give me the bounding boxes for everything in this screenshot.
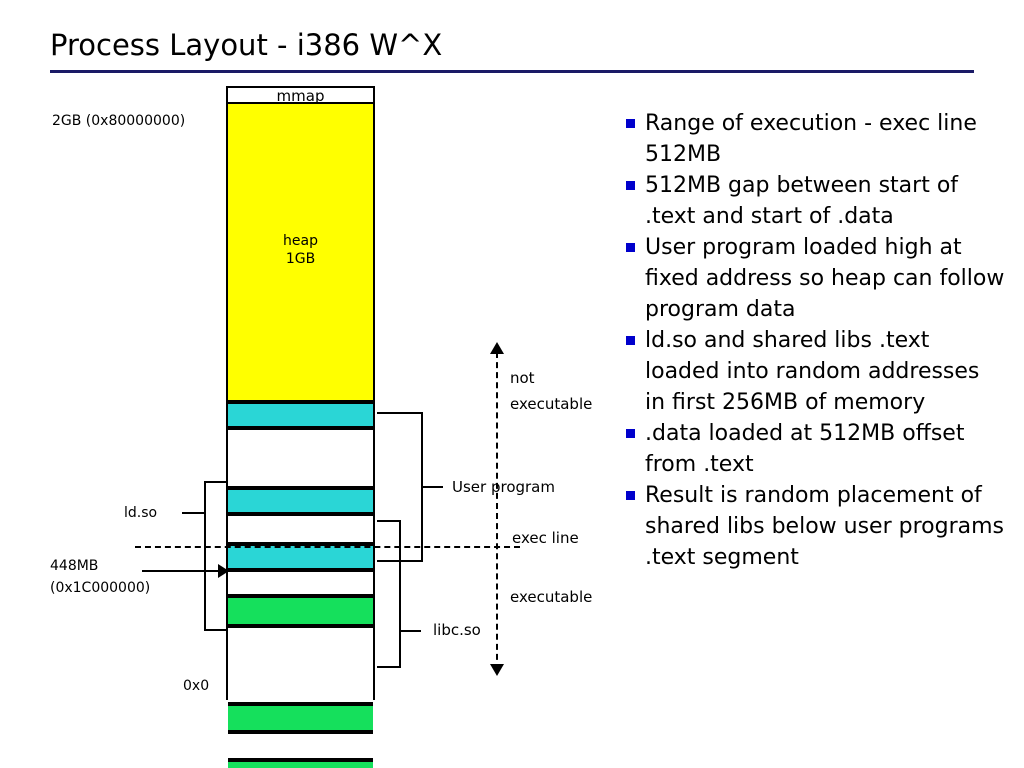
memory-block-gap-3 <box>228 570 373 596</box>
address-label-bottom: 0x0 <box>183 678 209 694</box>
bullet-square-icon <box>626 429 635 438</box>
bullet-square-icon <box>626 491 635 500</box>
bullet-text: Result is random placement of shared lib… <box>645 480 1006 573</box>
page-title: Process Layout - i386 W^X <box>50 28 442 62</box>
bullet-text: .data loaded at 512MB offset from .text <box>645 418 1006 480</box>
memory-block-gap-5 <box>228 732 373 760</box>
bullet-text: Range of execution - exec line 512MB <box>645 108 1006 170</box>
ldso-bracket-tick <box>182 512 204 514</box>
bullet-text: User program loaded high at fixed addres… <box>645 232 1006 325</box>
axis-label-executable: executable <box>510 588 592 606</box>
executable-axis-dashed-line <box>496 352 498 670</box>
memory-block-segment-green-2 <box>228 704 373 732</box>
heap-label: heap1GB <box>228 232 373 268</box>
heap-label-name: heap <box>228 232 373 250</box>
memory-block-gap-1 <box>228 428 373 488</box>
bullet-item-0: Range of execution - exec line 512MB <box>626 108 1006 170</box>
bullet-text: ld.so and shared libs .text loaded into … <box>645 325 1006 418</box>
memory-layout-column: mmap heap1GB <box>226 86 375 700</box>
bullet-square-icon <box>626 181 635 190</box>
address-label-448mb-hex: (0x1C000000) <box>50 580 150 596</box>
libc-bracket-bottom-arm <box>377 666 401 668</box>
memory-block-segment-cyan-1 <box>228 402 373 428</box>
axis-arrowhead-down-icon <box>490 664 504 676</box>
libc-bracket-spine <box>399 520 401 668</box>
ldso-bracket-bottom-arm <box>204 629 226 631</box>
exec-line-dashed-horizontal <box>135 546 520 548</box>
axis-label-exec-line: exec line <box>512 529 579 547</box>
slide-canvas: Process Layout - i386 W^X mmap heap1GB 2… <box>0 0 1024 768</box>
bullet-item-5: Result is random placement of shared lib… <box>626 480 1006 573</box>
bullet-item-1: 512MB gap between start of .text and sta… <box>626 170 1006 232</box>
address-448mb-arrowhead <box>218 564 229 578</box>
user-program-bracket-tick <box>421 486 443 488</box>
bullet-item-4: .data loaded at 512MB offset from .text <box>626 418 1006 480</box>
address-448mb-arrow-line <box>142 570 220 572</box>
memory-block-segment-green-1 <box>228 596 373 626</box>
bullet-text: 512MB gap between start of .text and sta… <box>645 170 1006 232</box>
memory-block-gap-2 <box>228 514 373 544</box>
memory-block-gap-4 <box>228 626 373 704</box>
ldso-bracket-top-arm <box>204 481 226 483</box>
ldso-bracket-spine <box>204 481 206 631</box>
memory-block-segment-green-3 <box>228 760 373 768</box>
bullet-item-3: ld.so and shared libs .text loaded into … <box>626 325 1006 418</box>
bullet-list: Range of execution - exec line 512MB512M… <box>626 108 1006 573</box>
memory-block-segment-cyan-2 <box>228 488 373 514</box>
libc-bracket-tick <box>399 630 421 632</box>
axis-label-not: not <box>510 369 535 387</box>
heap-label-size: 1GB <box>228 250 373 268</box>
user-program-bracket-top-arm <box>377 412 423 414</box>
address-label-top: 2GB (0x80000000) <box>52 113 185 129</box>
title-underline-divider <box>50 70 974 73</box>
bullet-square-icon <box>626 336 635 345</box>
libc-bracket-top-arm <box>377 520 401 522</box>
address-label-448mb: 448MB <box>50 558 98 574</box>
bullet-item-2: User program loaded high at fixed addres… <box>626 232 1006 325</box>
user-program-label: User program <box>452 478 555 496</box>
libc-label: libc.so <box>433 621 481 639</box>
axis-label-executable-upper: executable <box>510 395 592 413</box>
bullet-square-icon <box>626 119 635 128</box>
ldso-label: ld.so <box>124 505 157 521</box>
bullet-square-icon <box>626 243 635 252</box>
